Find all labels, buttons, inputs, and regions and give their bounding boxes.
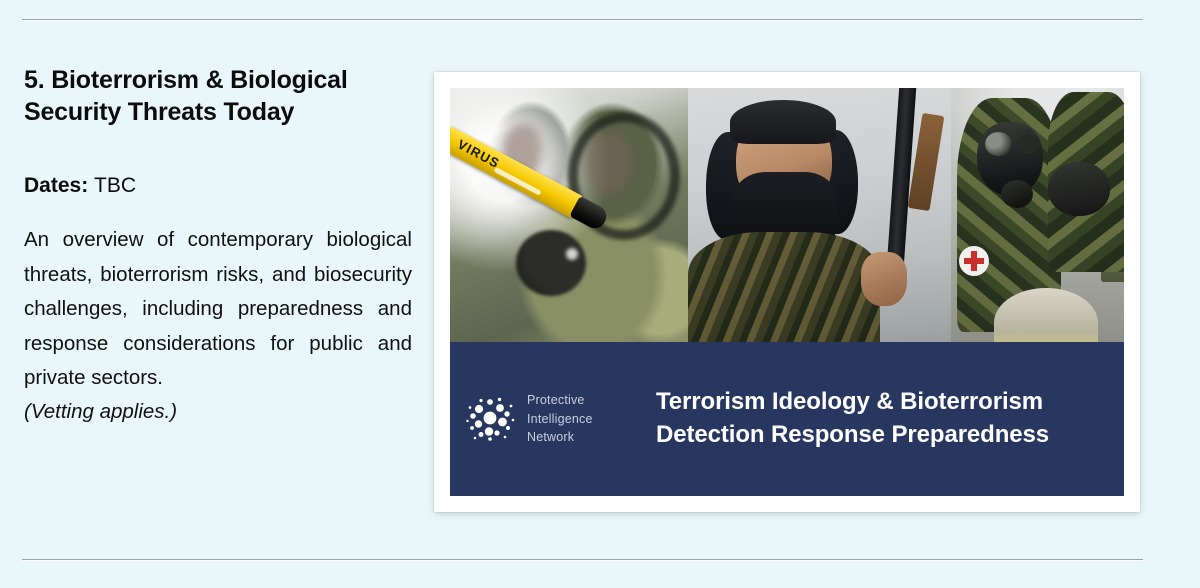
vial-highlight — [493, 167, 541, 196]
course-entry: 5. Bioterrorism & Biological Security Th… — [0, 20, 1200, 560]
mask-filter-canister-icon — [516, 230, 586, 296]
militant-headband — [730, 100, 836, 144]
gas-mask-icon — [1048, 162, 1110, 216]
photo-hazmat-virus-vial: VIRUS — [450, 88, 688, 342]
dates-value: TBC — [94, 174, 136, 197]
card-banner: Protective Intelligence Network Terroris… — [450, 342, 1124, 496]
course-dates: Dates: TBC — [24, 172, 412, 199]
photo-armed-militant — [688, 88, 951, 342]
course-text-column: 5. Bioterrorism & Biological Security Th… — [0, 20, 412, 430]
red-cross-icon — [959, 246, 989, 276]
hazmat-face-right — [586, 132, 632, 194]
gas-mask-canister — [1001, 180, 1033, 208]
course-image-card[interactable]: VIRUS — [434, 72, 1140, 512]
vetting-note: (Vetting applies.) — [24, 395, 412, 429]
photo-strip: VIRUS — [450, 88, 1124, 342]
banner-title: Terrorism Ideology & Bioterrorism Detect… — [656, 386, 1049, 451]
brand-lockup: Protective Intelligence Network — [464, 391, 650, 447]
course-title: 5. Bioterrorism & Biological Security Th… — [24, 64, 412, 128]
course-description: An overview of contemporary biological t… — [24, 223, 412, 395]
brand-name: Protective Intelligence Network — [527, 391, 593, 447]
dates-label: Dates: — [24, 174, 88, 197]
militant-hand — [861, 252, 907, 306]
course-image-card-wrapper: VIRUS — [434, 20, 1140, 512]
virus-label-text: VIRUS — [455, 137, 502, 172]
card-inner: VIRUS — [450, 88, 1124, 496]
photo-cbrn-drill — [951, 88, 1124, 342]
gas-mask-lens — [985, 132, 1012, 156]
militant-camo-torso — [688, 232, 880, 342]
network-sphere-icon — [464, 393, 516, 445]
